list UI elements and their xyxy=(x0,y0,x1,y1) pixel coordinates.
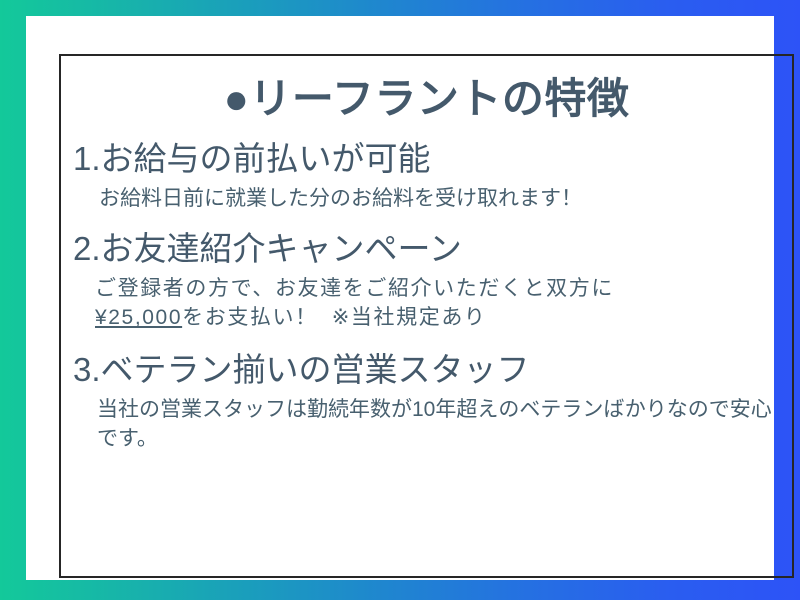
page-title: ●リーフラントの特徴 xyxy=(59,76,794,122)
poster-gradient-border: ●リーフラントの特徴 1.お給与の前払いが可能 お給料日前に就業した分のお給料を… xyxy=(0,0,800,600)
poster-content: ●リーフラントの特徴 1.お給与の前払いが可能 お給料日前に就業した分のお給料を… xyxy=(59,54,794,578)
feature-body-2-line1: ご登録者の方で、お友達をご紹介いただくと双方に xyxy=(95,277,614,300)
feature-heading-2: 2.お友達紹介キャンペーン xyxy=(73,228,790,270)
feature-body-3: 当社の営業スタッフは勤続年数が10年超えのベテランばかりなので安心です。 xyxy=(73,395,790,454)
feature-body-2: ご登録者の方で、お友達をご紹介いただくと双方に ¥25,000をお支払い！※当社… xyxy=(73,274,790,333)
feature-body-2-note: ※当社規定あり xyxy=(332,306,487,329)
list-item: 2.お友達紹介キャンペーン ご登録者の方で、お友達をご紹介いただくと双方に ¥2… xyxy=(59,228,794,333)
feature-heading-1: 1.お給与の前払いが可能 xyxy=(73,138,790,180)
poster-card: ●リーフラントの特徴 1.お給与の前払いが可能 お給料日前に就業した分のお給料を… xyxy=(26,16,774,580)
feature-list: 1.お給与の前払いが可能 お給料日前に就業した分のお給料を受け取れます！ 2.お… xyxy=(59,138,794,454)
referral-amount: ¥25,000 xyxy=(95,306,182,329)
feature-body-1: お給料日前に就業した分のお給料を受け取れます！ xyxy=(73,184,790,213)
feature-body-2-line2-rest: をお支払い！ xyxy=(182,306,318,329)
list-item: 1.お給与の前払いが可能 お給料日前に就業した分のお給料を受け取れます！ xyxy=(59,138,794,214)
feature-heading-3: 3.ベテラン揃いの営業スタッフ xyxy=(73,349,790,391)
list-item: 3.ベテラン揃いの営業スタッフ 当社の営業スタッフは勤続年数が10年超えのベテラ… xyxy=(59,349,794,454)
